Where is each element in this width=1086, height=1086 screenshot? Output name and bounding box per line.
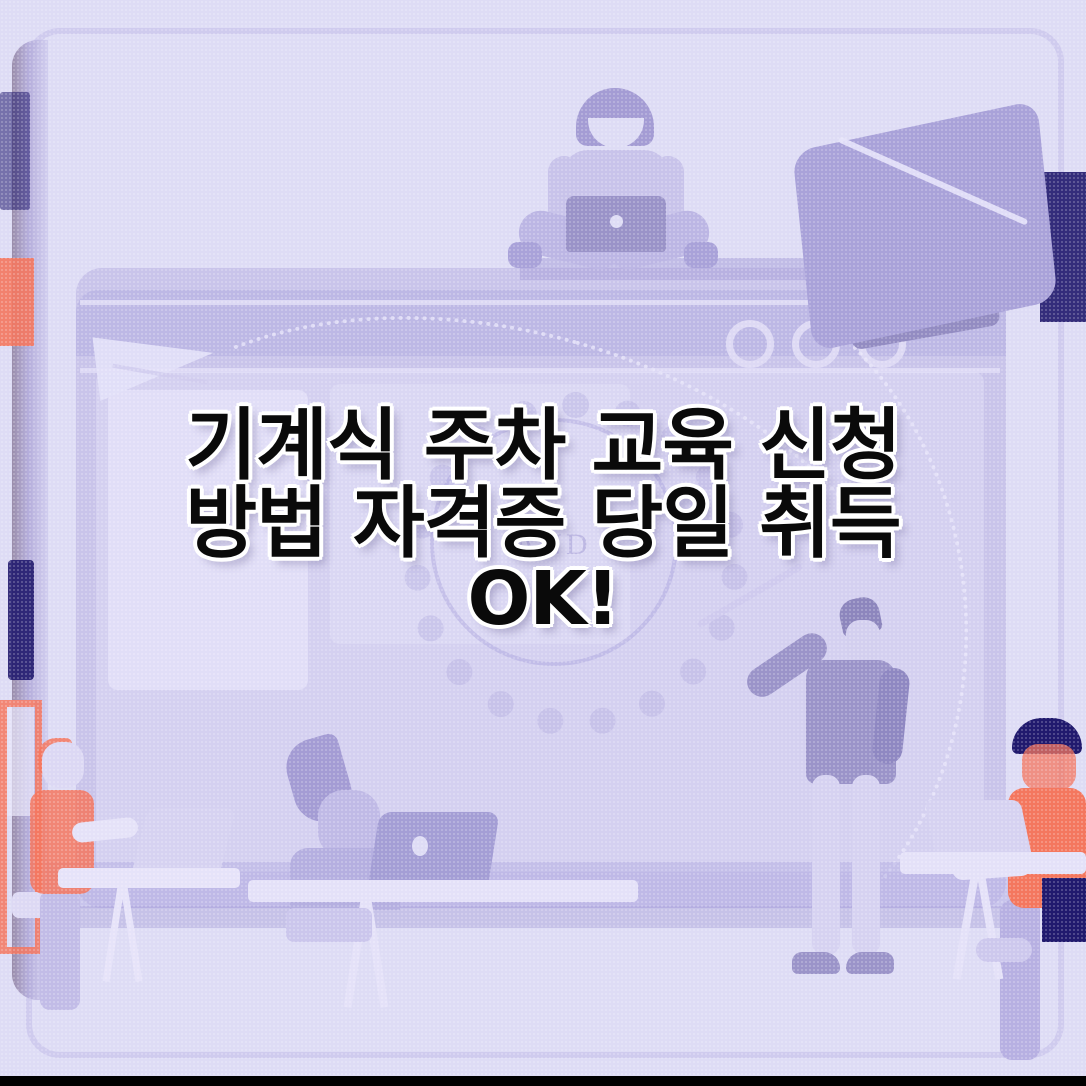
headline-line-3: OK! xyxy=(0,563,1086,637)
headline: 기계식 주차 교육 신청 방법 자격증 당일 취득 OK! xyxy=(0,408,1086,637)
frame-navy-accent-top xyxy=(0,92,30,210)
desk-worker-left-head xyxy=(42,742,84,788)
desk-worker-left-legs xyxy=(40,890,80,1010)
presenter-leg-left xyxy=(812,775,840,955)
presenter-leg-right xyxy=(852,775,880,955)
seated-person-foot-left xyxy=(508,242,542,268)
desk-worker-center-laptop-logo xyxy=(412,836,428,856)
desk-worker-right-legs xyxy=(1000,900,1040,1060)
headline-line-2: 방법 자격증 당일 취득 xyxy=(0,486,1086,564)
presenter-shoe-right xyxy=(846,952,894,974)
desk-worker-right-shoe xyxy=(976,938,1032,962)
desk-worker-center-chair xyxy=(286,908,372,942)
floor-shadow-band xyxy=(46,906,1040,928)
seated-person-foot-right xyxy=(684,242,718,268)
desk-worker-right-head xyxy=(1022,744,1076,790)
desk-worker-right-desk xyxy=(900,852,1086,874)
laptop-logo-dot xyxy=(610,215,623,228)
desk-worker-center-desk xyxy=(248,880,638,902)
desk-worker-left-desk xyxy=(58,868,240,888)
desk-worker-right-laptop-icon xyxy=(924,800,1032,856)
desk-worker-left-laptop-icon xyxy=(132,808,236,872)
desk-worker-right-navy-accent xyxy=(1042,878,1086,942)
presenter-shoe-left xyxy=(792,952,840,974)
bottom-black-bar xyxy=(0,1076,1086,1086)
desk-worker-center-laptop-icon xyxy=(368,812,499,884)
thumbnail-canvas: AND xyxy=(0,0,1086,1086)
left-book-accent-1 xyxy=(0,258,34,346)
headline-line-1: 기계식 주차 교육 신청 xyxy=(0,408,1086,486)
